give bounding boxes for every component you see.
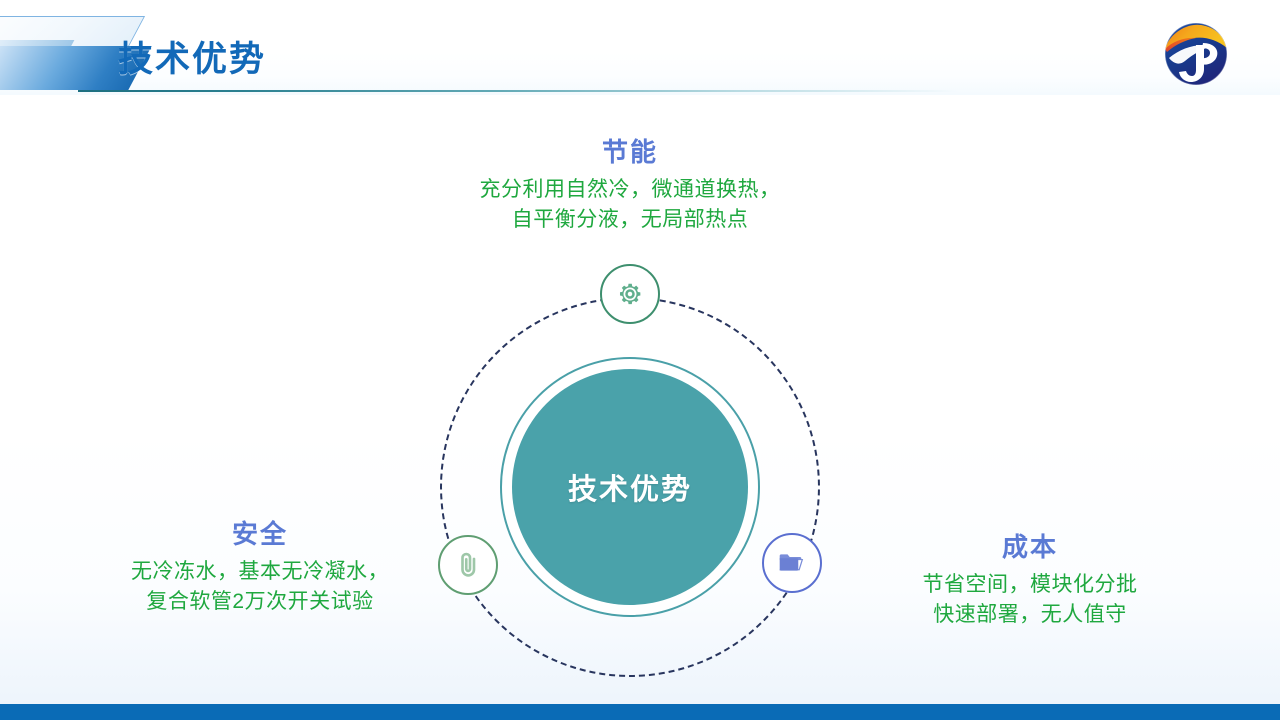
node-paperclip[interactable] (438, 535, 498, 595)
footer-bar (0, 704, 1280, 720)
feature-title-top: 节能 (380, 138, 880, 168)
header-divider-line (78, 90, 958, 92)
core-circle: 技术优势 (512, 369, 748, 605)
page-title: 技术优势 (118, 31, 266, 82)
gear-icon (615, 279, 645, 309)
feature-body-top: 充分利用自然冷，微通道换热， 自平衡分液，无局部热点 (380, 175, 880, 235)
folder-icon (776, 547, 808, 579)
feature-block-top: 节能 充分利用自然冷，微通道换热， 自平衡分液，无局部热点 (380, 138, 880, 235)
company-logo-icon (1163, 21, 1229, 87)
slide-canvas: 技术优势 (0, 0, 1280, 720)
central-diagram: 技术优势 (340, 247, 920, 709)
core-label: 技术优势 (568, 466, 692, 508)
node-folder[interactable] (762, 533, 822, 593)
node-gear[interactable] (600, 264, 660, 324)
slide-header: 技术优势 (0, 0, 1280, 95)
paperclip-icon (453, 550, 483, 580)
